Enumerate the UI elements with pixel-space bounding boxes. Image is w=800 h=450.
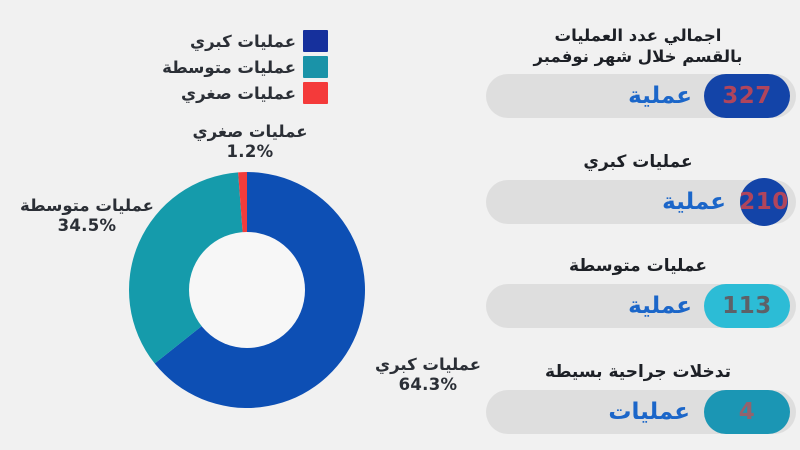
stat-bar-total: عملية 327 bbox=[486, 74, 796, 118]
legend-item-medium: عمليات متوسطة bbox=[178, 54, 328, 80]
stat-unit-total: عملية bbox=[628, 83, 692, 109]
legend-label-medium: عمليات متوسطة bbox=[162, 58, 296, 77]
stat-bar-medium: عملية 113 bbox=[486, 284, 796, 328]
stat-block-minor: تدخلات جراحية بسيطة عمليات 4 bbox=[470, 362, 800, 434]
stat-number-total: 327 bbox=[722, 83, 772, 109]
stat-badge-major: 210 bbox=[740, 178, 788, 226]
stat-block-medium: عمليات متوسطة عملية 113 bbox=[470, 256, 800, 328]
stat-number-medium: 113 bbox=[722, 293, 772, 319]
stat-badge-total: 327 bbox=[704, 74, 790, 118]
stat-number-major: 210 bbox=[739, 189, 789, 215]
donut-hole bbox=[189, 232, 305, 348]
infographic-root: عمليات كبري عمليات متوسطة عمليات صغري عم… bbox=[0, 0, 800, 450]
stat-block-total: اجمالي عدد العمليات بالقسم خلال شهر نوفم… bbox=[470, 26, 800, 118]
stat-bar-minor: عمليات 4 bbox=[486, 390, 796, 434]
stat-block-major: عمليات كبري عملية 210 bbox=[470, 152, 800, 224]
stat-title-major: عمليات كبري bbox=[470, 152, 800, 173]
donut-graphic bbox=[127, 170, 367, 410]
slice-label-minor-value: 1.2% bbox=[185, 142, 315, 162]
stat-badge-medium: 113 bbox=[704, 284, 790, 328]
legend-item-major: عمليات كبري bbox=[178, 28, 328, 54]
stat-title-minor: تدخلات جراحية بسيطة bbox=[470, 362, 800, 383]
chart-legend: عمليات كبري عمليات متوسطة عمليات صغري bbox=[178, 28, 328, 106]
legend-swatch-minor bbox=[303, 82, 328, 104]
slice-label-minor-name: عمليات صغري bbox=[193, 122, 308, 141]
stat-bar-major: عملية 210 bbox=[486, 180, 796, 224]
stat-title-total: اجمالي عدد العمليات بالقسم خلال شهر نوفم… bbox=[470, 26, 800, 67]
stat-unit-minor: عمليات bbox=[608, 399, 690, 425]
legend-label-minor: عمليات صغري bbox=[181, 84, 296, 103]
legend-item-minor: عمليات صغري bbox=[178, 80, 328, 106]
legend-label-major: عمليات كبري bbox=[190, 32, 296, 51]
stats-panel: اجمالي عدد العمليات بالقسم خلال شهر نوفم… bbox=[470, 0, 800, 450]
slice-label-major-name: عمليات كبري bbox=[375, 355, 481, 374]
stat-unit-major: عملية bbox=[662, 189, 726, 215]
stat-number-minor: 4 bbox=[739, 399, 756, 425]
stat-title-medium: عمليات متوسطة bbox=[470, 256, 800, 277]
donut-chart-panel: عمليات كبري عمليات متوسطة عمليات صغري عم… bbox=[0, 0, 470, 450]
donut-svg bbox=[127, 170, 367, 410]
stat-unit-medium: عملية bbox=[628, 293, 692, 319]
slice-label-minor: عمليات صغري 1.2% bbox=[185, 122, 315, 162]
legend-swatch-major bbox=[303, 30, 328, 52]
legend-swatch-medium bbox=[303, 56, 328, 78]
stat-badge-minor: 4 bbox=[704, 390, 790, 434]
